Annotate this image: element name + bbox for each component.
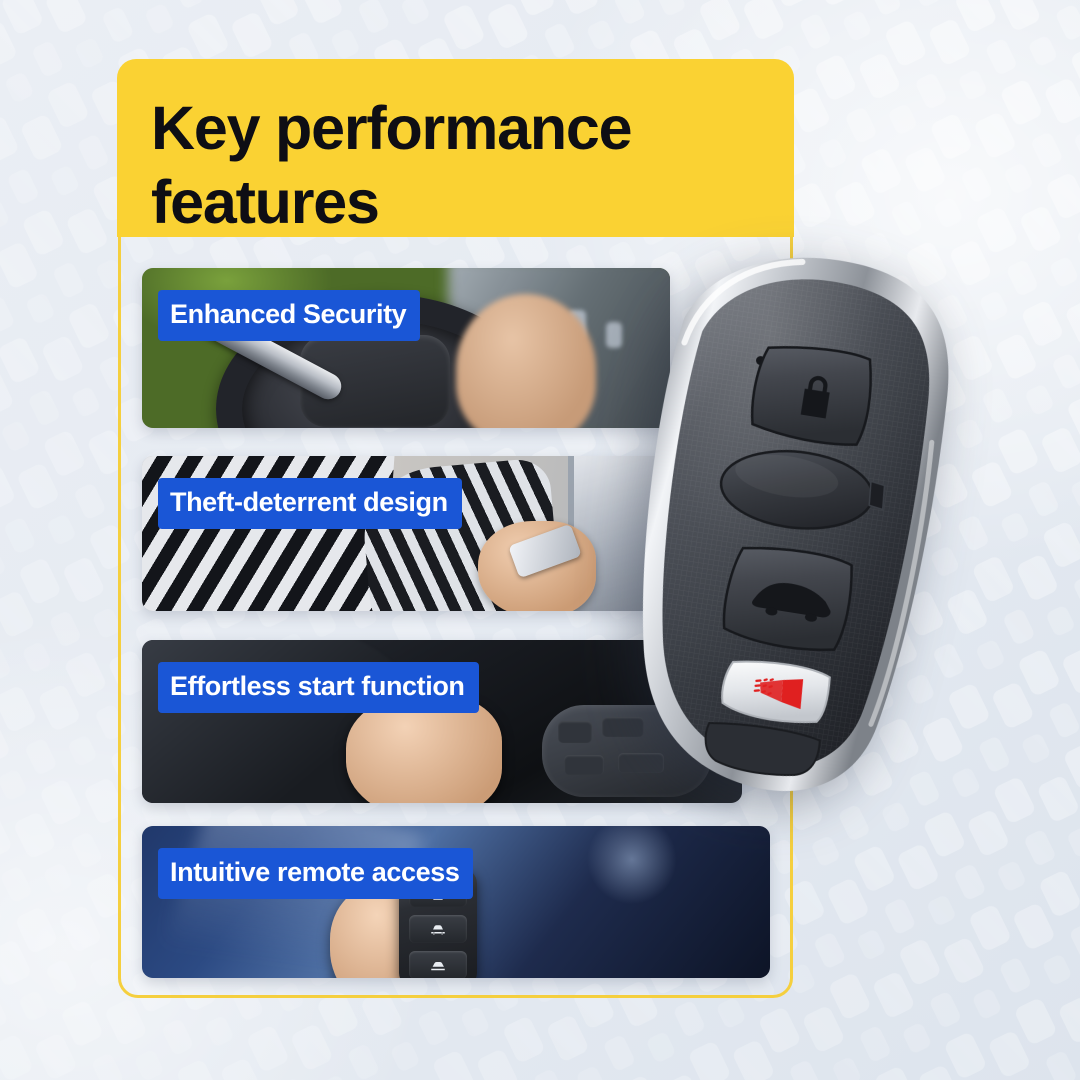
badge-enhanced-security[interactable]: Enhanced Security: [158, 290, 420, 341]
dash-button-b: [606, 322, 622, 348]
feature-card-intuitive-remote-access[interactable]: Intuitive remote access: [142, 826, 770, 978]
infographic-canvas: Key performance features Enhanced Securi…: [0, 0, 1080, 1080]
badge-effortless-start-function[interactable]: Effortless start function: [158, 662, 479, 713]
feature-card-enhanced-security[interactable]: Enhanced Security: [142, 268, 670, 428]
fob-car-button: [409, 915, 467, 943]
badge-theft-deterrent-design[interactable]: Theft-deterrent design: [158, 478, 462, 529]
fob-trunk-button: [409, 951, 467, 978]
badge-intuitive-remote-access[interactable]: Intuitive remote access: [158, 848, 473, 899]
title-panel: Key performance features: [117, 59, 794, 237]
